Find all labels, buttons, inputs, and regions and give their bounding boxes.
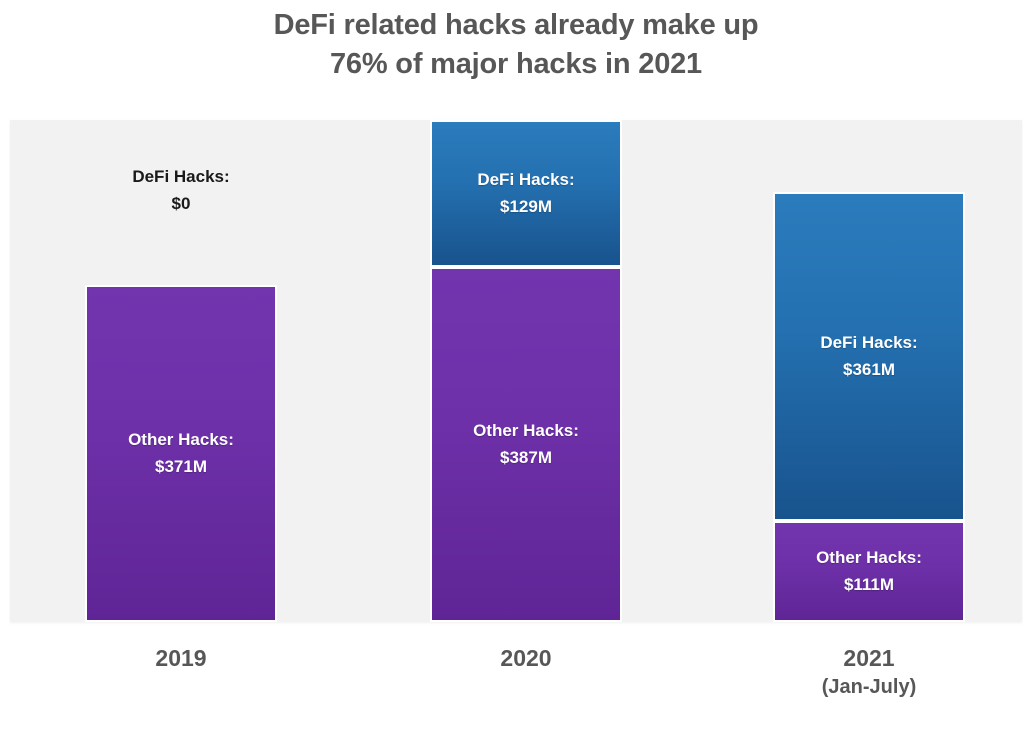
bar-label-value: $361M xyxy=(820,357,917,383)
category-label-2020: 2020 xyxy=(430,643,622,674)
bar-label-value: $0 xyxy=(85,191,277,217)
bar-label-name: DeFi Hacks: xyxy=(477,170,574,189)
bar-label-value: $111M xyxy=(816,572,922,598)
bar-label-value: $387M xyxy=(473,445,579,471)
bar-segment-label: DeFi Hacks: $361M xyxy=(820,330,917,383)
category-label-text: 2021 xyxy=(843,645,894,671)
chart-plot-area: DeFi Hacks: $0 Other Hacks: $371M DeFi H… xyxy=(10,120,1022,622)
bar-segment-2020-other-hacks[interactable]: Other Hacks: $387M xyxy=(430,267,622,622)
bar-label-name: Other Hacks: xyxy=(128,430,234,449)
bar-segment-2020-defi-hacks[interactable]: DeFi Hacks: $129M xyxy=(430,120,622,267)
category-axis: 2019 2020 2021 (Jan-July) xyxy=(10,626,1022,716)
chart-title-line-1: DeFi related hacks already make up xyxy=(0,6,1032,45)
bar-label-name: Other Hacks: xyxy=(473,421,579,440)
bar-segment-label: Other Hacks: $387M xyxy=(473,418,579,471)
bar-segment-label: Other Hacks: $111M xyxy=(816,545,922,598)
bar-label-name: Other Hacks: xyxy=(816,548,922,567)
bar-segment-label: DeFi Hacks: $129M xyxy=(477,167,574,220)
category-sublabel-text: (Jan-July) xyxy=(773,674,965,701)
chart-title: DeFi related hacks already make up 76% o… xyxy=(0,6,1032,83)
cropped-footer-text xyxy=(0,731,1032,743)
bar-segment-2021-other-hacks[interactable]: Other Hacks: $111M xyxy=(773,521,965,622)
category-label-2021: 2021 (Jan-July) xyxy=(773,643,965,700)
bar-label-name: DeFi Hacks: xyxy=(132,167,229,186)
category-label-text: 2019 xyxy=(155,645,206,671)
bar-group-2021[interactable]: DeFi Hacks: $361M Other Hacks: $111M xyxy=(773,120,965,622)
bar-label-2019-defi-hacks: DeFi Hacks: $0 xyxy=(85,164,277,217)
bar-group-2020[interactable]: DeFi Hacks: $129M Other Hacks: $387M xyxy=(430,120,622,622)
bar-group-2019[interactable]: DeFi Hacks: $0 Other Hacks: $371M xyxy=(85,120,277,622)
bar-segment-2019-other-hacks[interactable]: Other Hacks: $371M xyxy=(85,285,277,622)
category-label-text: 2020 xyxy=(500,645,551,671)
category-label-2019: 2019 xyxy=(85,643,277,674)
bar-label-value: $371M xyxy=(128,454,234,480)
bar-label-value: $129M xyxy=(477,194,574,220)
chart-title-line-2: 76% of major hacks in 2021 xyxy=(0,45,1032,84)
bar-segment-label: Other Hacks: $371M xyxy=(128,427,234,480)
bar-label-name: DeFi Hacks: xyxy=(820,333,917,352)
bar-segment-2021-defi-hacks[interactable]: DeFi Hacks: $361M xyxy=(773,192,965,521)
